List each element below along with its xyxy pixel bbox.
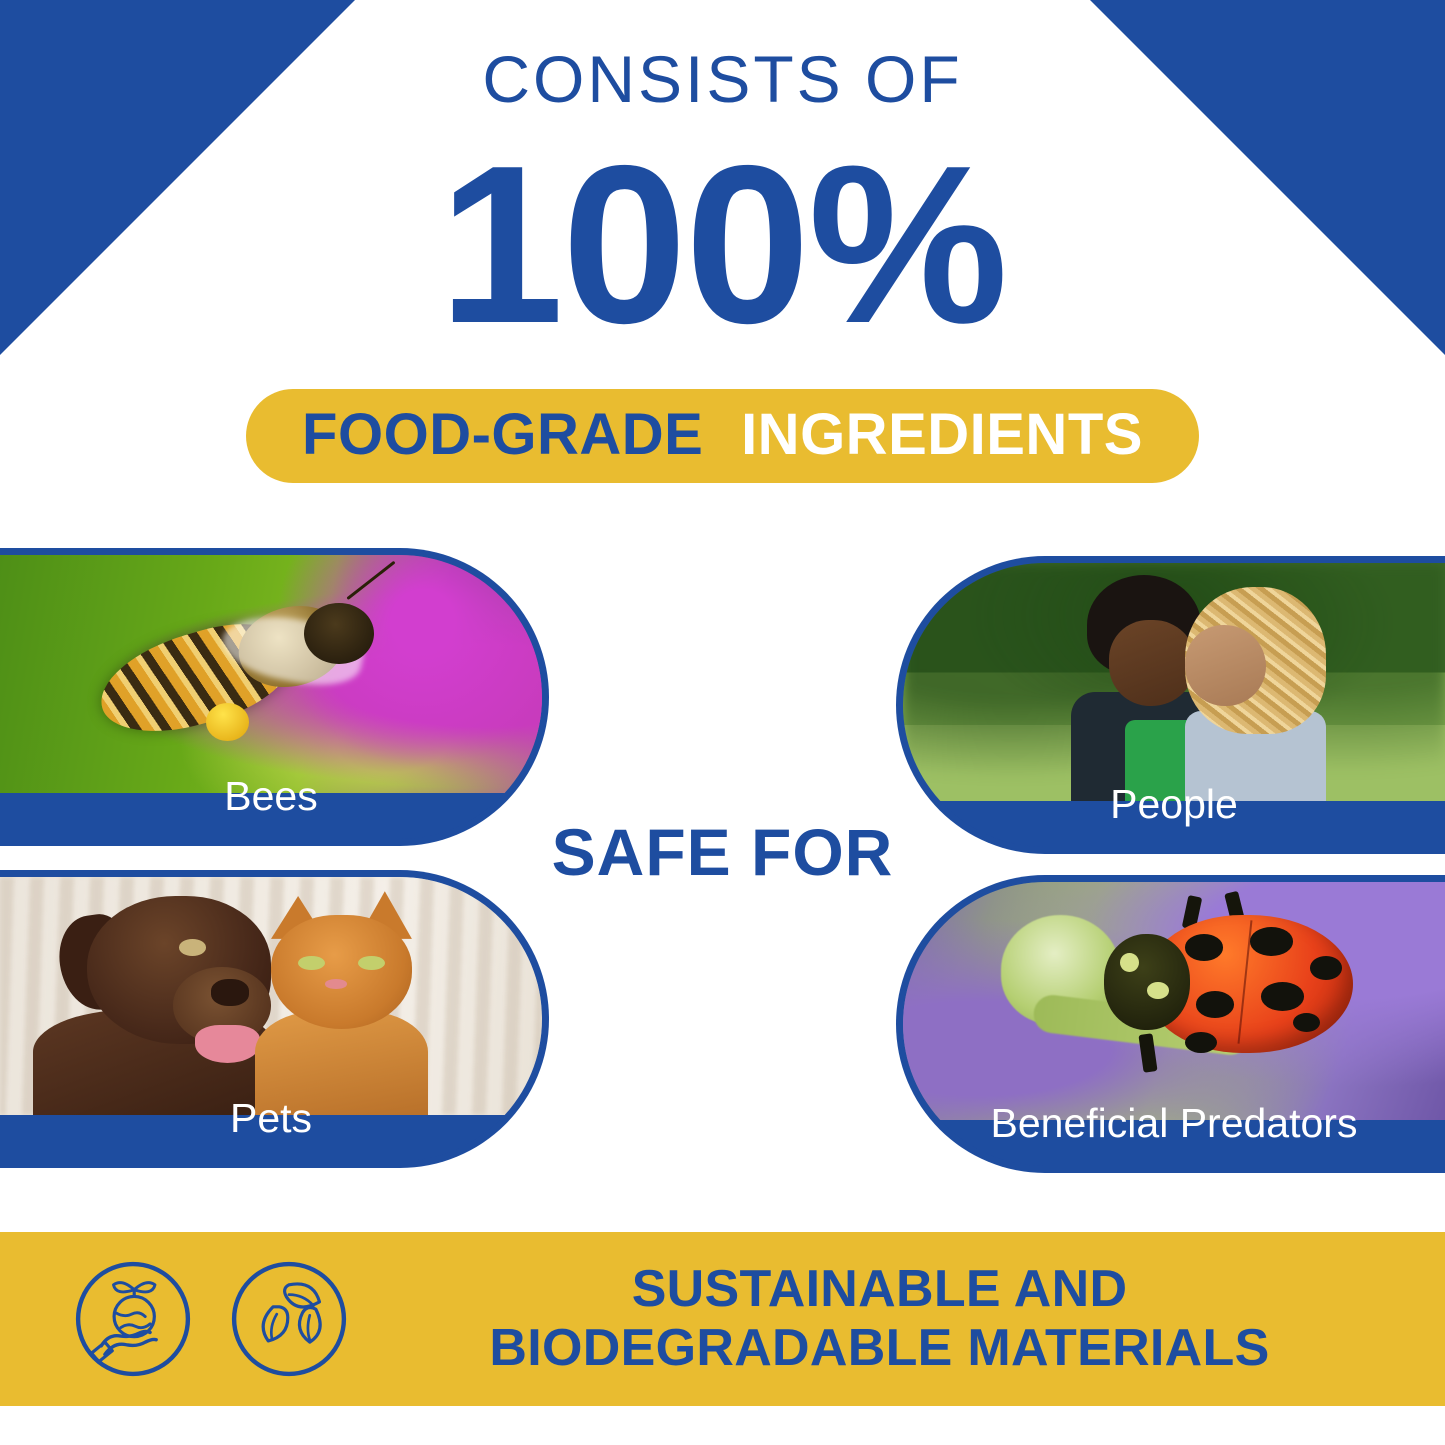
ladybug-spot	[1310, 956, 1343, 980]
pill-text-ingredients: INGREDIENTS	[741, 402, 1143, 467]
people-photo	[903, 563, 1445, 801]
bee-pollen-basket	[206, 703, 249, 741]
dog-nose	[211, 979, 249, 1005]
food-grade-pill: FOOD-GRADE INGREDIENTS	[246, 389, 1199, 483]
cat-nose	[325, 979, 347, 989]
cat-head	[271, 915, 412, 1029]
dog-eye	[179, 939, 206, 956]
food-grade-pill-wrapper: FOOD-GRADE INGREDIENTS	[0, 389, 1445, 483]
card-label-pets: Pets	[0, 1098, 542, 1161]
safe-for-section: SAFE FOR Bees	[0, 548, 1445, 1173]
safe-for-card-beneficial-predators[interactable]: Beneficial Predators	[896, 875, 1445, 1173]
card-label-beneficial-predators: Beneficial Predators	[903, 1103, 1445, 1166]
hero-percent: 100%	[0, 126, 1445, 362]
ladybug-spot	[1261, 982, 1304, 1011]
safe-for-card-pets[interactable]: Pets	[0, 870, 549, 1168]
hero-eyebrow: CONSISTS OF	[0, 46, 1445, 112]
sustainability-text: SUSTAINABLE AND BIODEGRADABLE MATERIALS	[350, 1260, 1445, 1379]
cat-eye-left	[298, 956, 325, 970]
hand-holding-earth-sprout-icon	[72, 1258, 194, 1380]
person-one-face	[1109, 620, 1196, 706]
ladybug-spot	[1185, 934, 1223, 960]
cat-eye-right	[358, 956, 385, 970]
bees-photo	[0, 555, 542, 793]
bee-head	[304, 603, 374, 665]
sustainability-band: SUSTAINABLE AND BIODEGRADABLE MATERIALS	[0, 1232, 1445, 1406]
bee-scene-art	[0, 555, 542, 793]
pets-photo	[0, 877, 542, 1115]
sustainability-line-1: SUSTAINABLE AND	[350, 1260, 1409, 1319]
ladybug-spot	[1293, 1013, 1320, 1032]
safe-for-card-bees[interactable]: Bees	[0, 548, 549, 846]
person-two-face	[1185, 625, 1266, 706]
ladybug-spot	[1250, 927, 1293, 956]
dog-tongue	[195, 1025, 260, 1063]
sustainability-line-2: BIODEGRADABLE MATERIALS	[350, 1319, 1409, 1378]
bee-antenna	[347, 561, 396, 600]
dog-cat-scene-art	[0, 877, 542, 1115]
card-label-bees: Bees	[0, 776, 542, 839]
hero-block: CONSISTS OF 100%	[0, 0, 1445, 362]
ladybug-spot	[1196, 991, 1234, 1017]
pill-text-food-grade: FOOD-GRADE	[302, 402, 703, 467]
card-label-people: People	[903, 784, 1445, 847]
safe-for-card-people[interactable]: People	[896, 556, 1445, 854]
ladybug-scene-art	[903, 882, 1445, 1120]
ladybug-head-marking	[1147, 982, 1169, 999]
infographic-canvas: CONSISTS OF 100% FOOD-GRADE INGREDIENTS …	[0, 0, 1445, 1445]
recycling-leaves-icon	[228, 1258, 350, 1380]
two-women-scene-art	[903, 563, 1445, 801]
sustainability-icon-group	[0, 1258, 350, 1380]
beneficial-predators-photo	[903, 882, 1445, 1120]
ladybug-head	[1104, 934, 1191, 1029]
